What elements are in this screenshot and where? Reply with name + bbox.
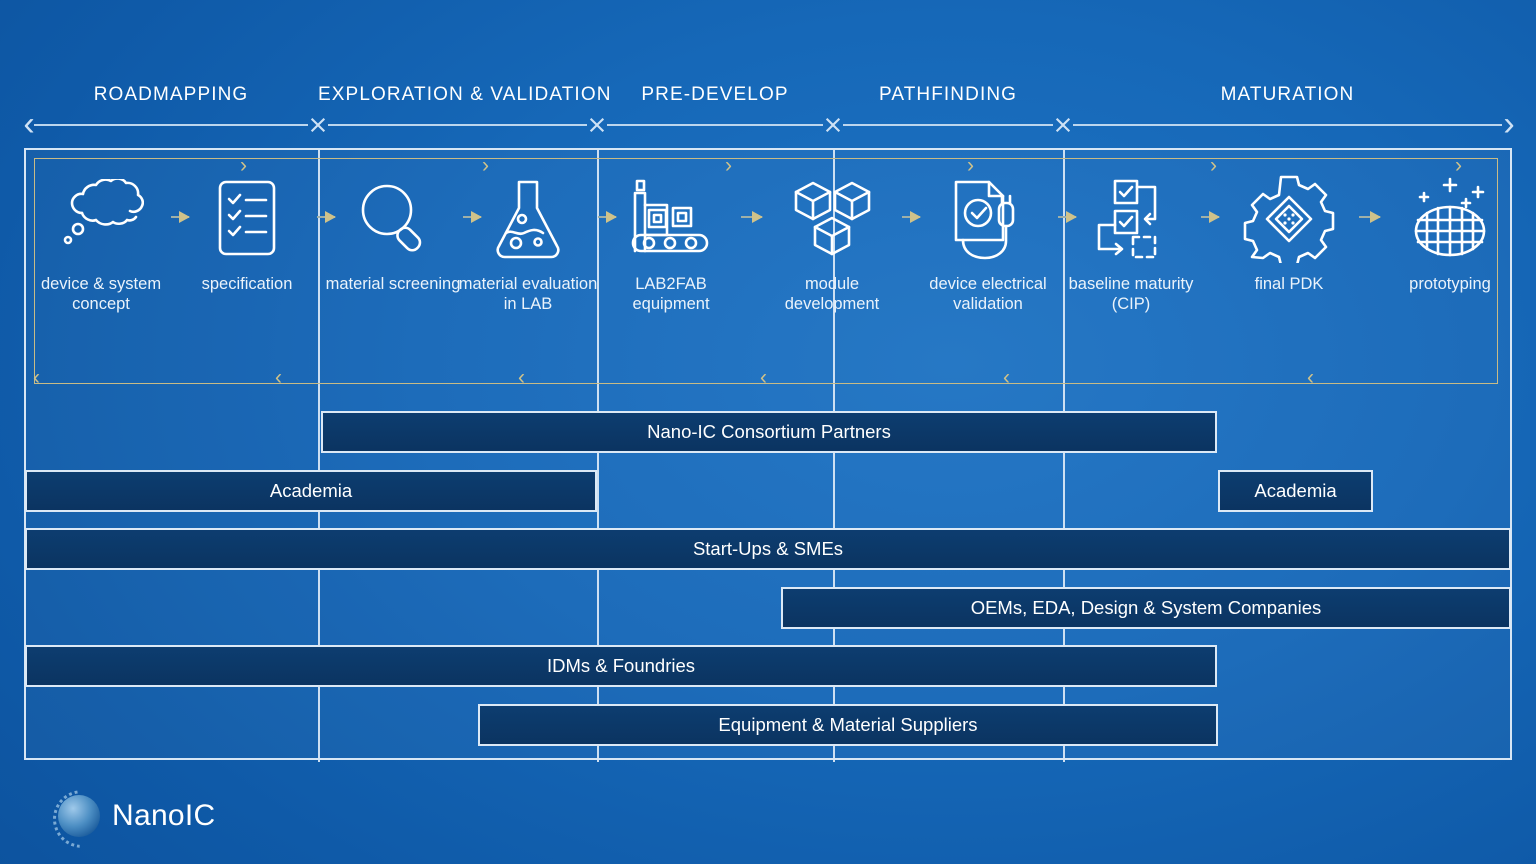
flow-chevron-back-0: ‹ [33,367,40,388]
process-step-label-4: LAB2FAB equipment [595,274,747,314]
phase-divider-marker-1: ⨯ [305,112,331,138]
wafer-sparkle-icon [1374,176,1526,262]
flow-chevron-forward-3: › [967,155,974,176]
partner-bar-2: Academia [1218,470,1373,512]
fab-conveyor-chip-icon [595,176,747,262]
partner-bar-4: OEMs, EDA, Design & System Companies [781,587,1511,629]
phase-divider-marker-3: ⨯ [820,112,846,138]
process-step-9: prototyping [1374,176,1526,294]
process-step-label-8: final PDK [1213,274,1365,294]
erlenmeyer-flask-icon [452,176,604,262]
process-step-label-9: prototyping [1374,274,1526,294]
process-step-4: LAB2FAB equipment [595,176,747,314]
process-step-label-3: material evaluation in LAB [452,274,604,314]
phase-label-1: EXPLORATION & VALIDATION [318,84,597,106]
axis-right-cap: › [1500,112,1518,138]
partner-bar-label-0: Nano-IC Consortium Partners [647,421,891,443]
phase-divider-marker-4: ⨯ [1050,112,1076,138]
process-step-label-7: baseline maturity (CIP) [1055,274,1207,314]
flow-chevron-forward-4: › [1210,155,1217,176]
process-step-7: baseline maturity (CIP) [1055,176,1207,314]
three-cubes-icon [756,176,908,262]
partner-bar-0: Nano-IC Consortium Partners [321,411,1217,453]
flow-chevron-back-1: ‹ [275,367,282,388]
phase-axis-line-3 [843,124,1053,126]
phase-axis-line-1 [328,124,587,126]
partner-bar-label-2: Academia [1254,480,1336,502]
flow-chevron-back-5: ‹ [1307,367,1314,388]
partner-bar-label-4: OEMs, EDA, Design & System Companies [971,597,1322,619]
magnifier-icon [317,176,469,262]
process-step-0: device & system concept [25,176,177,314]
flow-chevron-forward-2: › [725,155,732,176]
phase-label-3: PATHFINDING [833,84,1063,106]
checkbox-flow-icon [1055,176,1207,262]
process-step-band: ››››››‹‹‹‹‹‹ device & system conceptspec… [24,150,1512,390]
partner-bar-label-6: Equipment & Material Suppliers [718,714,977,736]
process-step-label-6: device electrical validation [912,274,1064,314]
flow-chevron-back-3: ‹ [760,367,767,388]
partner-bar-1: Academia [25,470,597,512]
gear-chip-icon [1213,176,1365,262]
phase-axis-line-4 [1073,124,1502,126]
logo-text: NanoIC [112,799,216,833]
flow-chevron-forward-5: › [1455,155,1462,176]
globe-icon [58,795,100,837]
process-step-label-1: specification [171,274,323,294]
process-step-5: module development [756,176,908,314]
document-plug-check-icon [912,176,1064,262]
process-step-1: specification [171,176,323,294]
flow-chevron-forward-0: › [240,155,247,176]
process-step-label-0: device & system concept [25,274,177,314]
phase-label-4: MATURATION [1063,84,1512,106]
partner-bar-3: Start-Ups & SMEs [25,528,1511,570]
thought-cloud-icon [25,176,177,262]
checklist-document-icon [171,176,323,262]
process-step-label-2: material screening [317,274,469,294]
phase-divider-marker-2: ⨯ [584,112,610,138]
flow-chevron-forward-1: › [482,155,489,176]
phase-label-0: ROADMAPPING [24,84,318,106]
process-step-3: material evaluation in LAB [452,176,604,314]
flow-chevron-back-2: ‹ [518,367,525,388]
process-step-label-5: module development [756,274,908,314]
partner-bar-label-5: IDMs & Foundries [547,655,695,677]
process-step-8: final PDK [1213,176,1365,294]
axis-left-cap: ‹ [20,112,38,138]
slide-canvas: ROADMAPPINGEXPLORATION & VALIDATIONPRE-D… [0,0,1536,864]
flow-chevron-back-4: ‹ [1003,367,1010,388]
partner-bar-6: Equipment & Material Suppliers [478,704,1218,746]
process-step-2: material screening [317,176,469,294]
partner-bar-label-1: Academia [270,480,352,502]
process-step-6: device electrical validation [912,176,1064,314]
partner-bar-label-3: Start-Ups & SMEs [693,538,843,560]
nanoic-logo: NanoIC [58,795,216,837]
phase-axis-line-0 [34,124,308,126]
phase-axis-line-2 [607,124,823,126]
phase-label-2: PRE-DEVELOP [597,84,833,106]
partner-bar-5: IDMs & Foundries [25,645,1217,687]
